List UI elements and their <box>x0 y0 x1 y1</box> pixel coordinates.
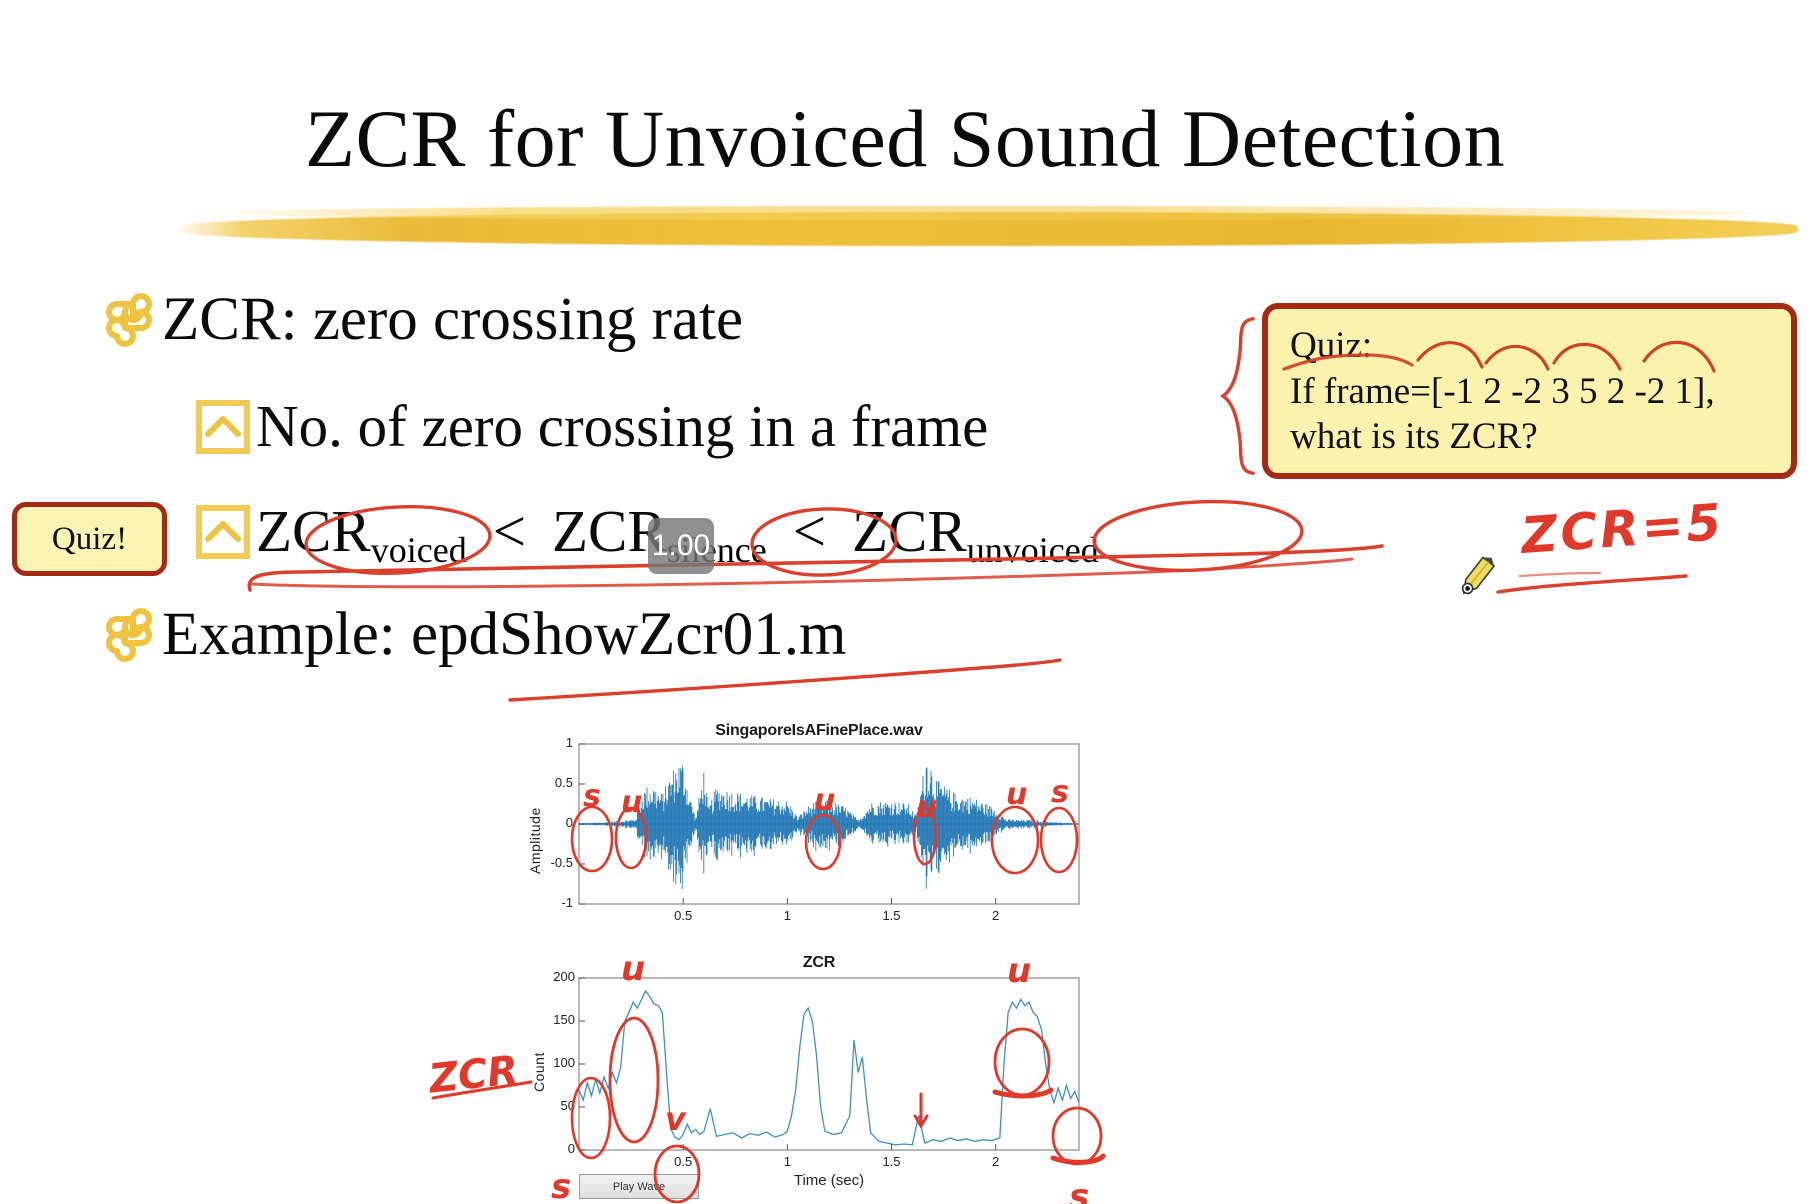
quiz-box-red-ink <box>1262 303 1802 483</box>
zcr-label-stroke <box>427 1074 557 1114</box>
svg-text:u: u <box>1006 777 1027 812</box>
quiz-badge[interactable]: Quiz! <box>12 502 167 576</box>
bullet-label-1: ZCR: zero crossing rate <box>162 285 743 355</box>
curly-brace-icon <box>1208 315 1268 477</box>
title-underline-brush <box>178 212 1798 246</box>
page-title: ZCR for Unvoiced Sound Detection <box>0 92 1810 186</box>
svg-text:s: s <box>551 1167 571 1204</box>
waveform-annotations: s u u u u s <box>559 732 1099 922</box>
red-ink-example-underline <box>460 638 1160 728</box>
svg-text:u: u <box>621 949 645 989</box>
matlab-figure: SingaporeIsAFinePlace.wav Amplitude -1-0… <box>519 722 1099 1200</box>
zcr-answer-underline <box>1490 562 1720 610</box>
svg-text:u: u <box>814 783 835 818</box>
tooltip-value: 1.00 <box>652 529 710 563</box>
loop-marker-icon <box>100 291 158 349</box>
handwritten-zcr-answer: ZCR=5 <box>1519 493 1726 565</box>
svg-text:u: u <box>1007 951 1031 991</box>
zcr-annotations: u v u s s <box>529 940 1109 1190</box>
bullet-row-2: No. of zero crossing in a frame <box>196 392 988 461</box>
bullet-row-1: ZCR: zero crossing rate <box>100 285 743 355</box>
svg-text:v: v <box>665 1100 687 1138</box>
slide-canvas: ZCR for Unvoiced Sound Detection ZCR: ze… <box>0 0 1810 1204</box>
svg-text:s: s <box>1051 775 1069 810</box>
quiz-badge-label: Quiz! <box>52 521 127 558</box>
svg-text:u: u <box>621 785 642 820</box>
chevron-square-icon <box>196 400 250 454</box>
svg-text:u: u <box>916 790 937 825</box>
bullet-label-2: No. of zero crossing in a frame <box>256 392 988 461</box>
svg-text:s: s <box>583 779 601 814</box>
pencil-cursor-icon <box>1447 551 1503 607</box>
value-tooltip: 1.00 <box>648 518 714 574</box>
svg-text:s: s <box>1069 1177 1089 1204</box>
